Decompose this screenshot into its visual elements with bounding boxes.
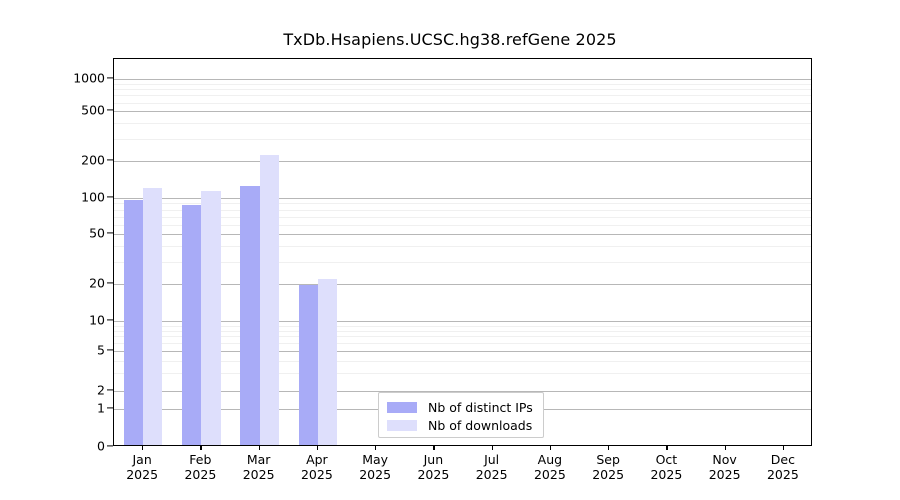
- x-axis-tick-mark: [200, 446, 201, 450]
- gridline-minor: [114, 89, 811, 90]
- y-axis-tick-label: 1000: [73, 71, 105, 86]
- y-axis-tick-label: 500: [81, 103, 105, 118]
- legend-item-downloads: Nb of downloads: [387, 416, 535, 434]
- chart-title: TxDb.Hsapiens.UCSC.hg38.refGene 2025: [0, 30, 900, 49]
- x-axis-tick-mark: [142, 446, 143, 450]
- y-axis-tick-mark: [107, 407, 113, 408]
- bar-downloads-feb: [201, 191, 220, 445]
- x-axis-tick-label: Dec2025: [767, 452, 799, 482]
- x-axis-tick-label: Nov2025: [709, 452, 741, 482]
- x-axis-tick-label: May2025: [359, 452, 391, 482]
- y-axis-tick-mark: [107, 196, 113, 197]
- y-axis-tick-mark: [107, 349, 113, 350]
- x-axis-tick-label: Jul2025: [476, 452, 508, 482]
- gridline-minor: [114, 84, 811, 85]
- gridline-minor: [114, 139, 811, 140]
- y-axis-tick-mark: [107, 445, 113, 446]
- x-axis-tick-mark: [259, 446, 260, 450]
- x-axis-tick-mark: [492, 446, 493, 450]
- x-axis-tick-label: Aug2025: [534, 452, 566, 482]
- gridline-major: [114, 161, 811, 162]
- legend-label-ips: Nb of distinct IPs: [428, 400, 533, 415]
- legend-swatch-icon-ips: [387, 402, 417, 413]
- y-axis-tick-mark: [107, 232, 113, 233]
- x-axis-tick-mark: [375, 446, 376, 450]
- y-axis-tick-mark: [107, 77, 113, 78]
- y-axis-tick-label: 20: [89, 276, 105, 291]
- bar-ips-mar: [240, 186, 259, 445]
- y-axis-tick-mark: [107, 389, 113, 390]
- bar-downloads-apr: [318, 279, 337, 445]
- x-axis-tick-mark: [725, 446, 726, 450]
- x-axis-tick-label: Jan2025: [126, 452, 158, 482]
- legend-item-ips: Nb of distinct IPs: [387, 398, 535, 416]
- bar-ips-jan: [124, 200, 143, 445]
- x-axis-tick-mark: [608, 446, 609, 450]
- x-axis-tick-label: Apr2025: [301, 452, 333, 482]
- y-axis-tick-label: 1: [97, 401, 105, 416]
- gridline-minor: [114, 95, 811, 96]
- y-axis-tick-mark: [107, 159, 113, 160]
- x-axis-tick-label: Sep2025: [592, 452, 624, 482]
- chart-legend: Nb of distinct IPs Nb of downloads: [378, 392, 544, 438]
- x-axis-tick-mark: [666, 446, 667, 450]
- y-axis-tick-mark: [107, 319, 113, 320]
- chart-figure: TxDb.Hsapiens.UCSC.hg38.refGene 2025 100…: [0, 0, 900, 500]
- y-axis-tick-label: 50: [89, 226, 105, 241]
- gridline-major: [114, 79, 811, 80]
- x-axis-tick-label: Feb2025: [184, 452, 216, 482]
- x-axis-tick-label: Jun2025: [417, 452, 449, 482]
- plot-area: [113, 58, 812, 446]
- gridline-minor: [114, 123, 811, 124]
- x-axis-tick-label: Oct2025: [650, 452, 682, 482]
- y-axis-tick-label: 5: [97, 343, 105, 358]
- legend-label-downloads: Nb of downloads: [428, 418, 532, 433]
- x-axis-tick-label: Mar2025: [243, 452, 275, 482]
- bar-ips-feb: [182, 205, 201, 445]
- y-axis-tick-label: 200: [81, 153, 105, 168]
- x-axis-tick-mark: [783, 446, 784, 450]
- bar-ips-apr: [299, 285, 318, 445]
- legend-swatch-icon-downloads: [387, 420, 417, 431]
- gridline-major: [114, 111, 811, 112]
- gridline-minor: [114, 103, 811, 104]
- x-axis-tick-mark: [550, 446, 551, 450]
- x-axis-tick-mark: [317, 446, 318, 450]
- bar-downloads-jan: [143, 188, 162, 445]
- y-axis-tick-label: 10: [89, 313, 105, 328]
- y-axis-tick-mark: [107, 282, 113, 283]
- bar-downloads-mar: [260, 155, 279, 445]
- y-axis-tick-label: 100: [81, 190, 105, 205]
- y-axis-tick-mark: [107, 109, 113, 110]
- y-axis-tick-label: 2: [97, 383, 105, 398]
- x-axis-tick-mark: [433, 446, 434, 450]
- y-axis-tick-label: 0: [97, 439, 105, 454]
